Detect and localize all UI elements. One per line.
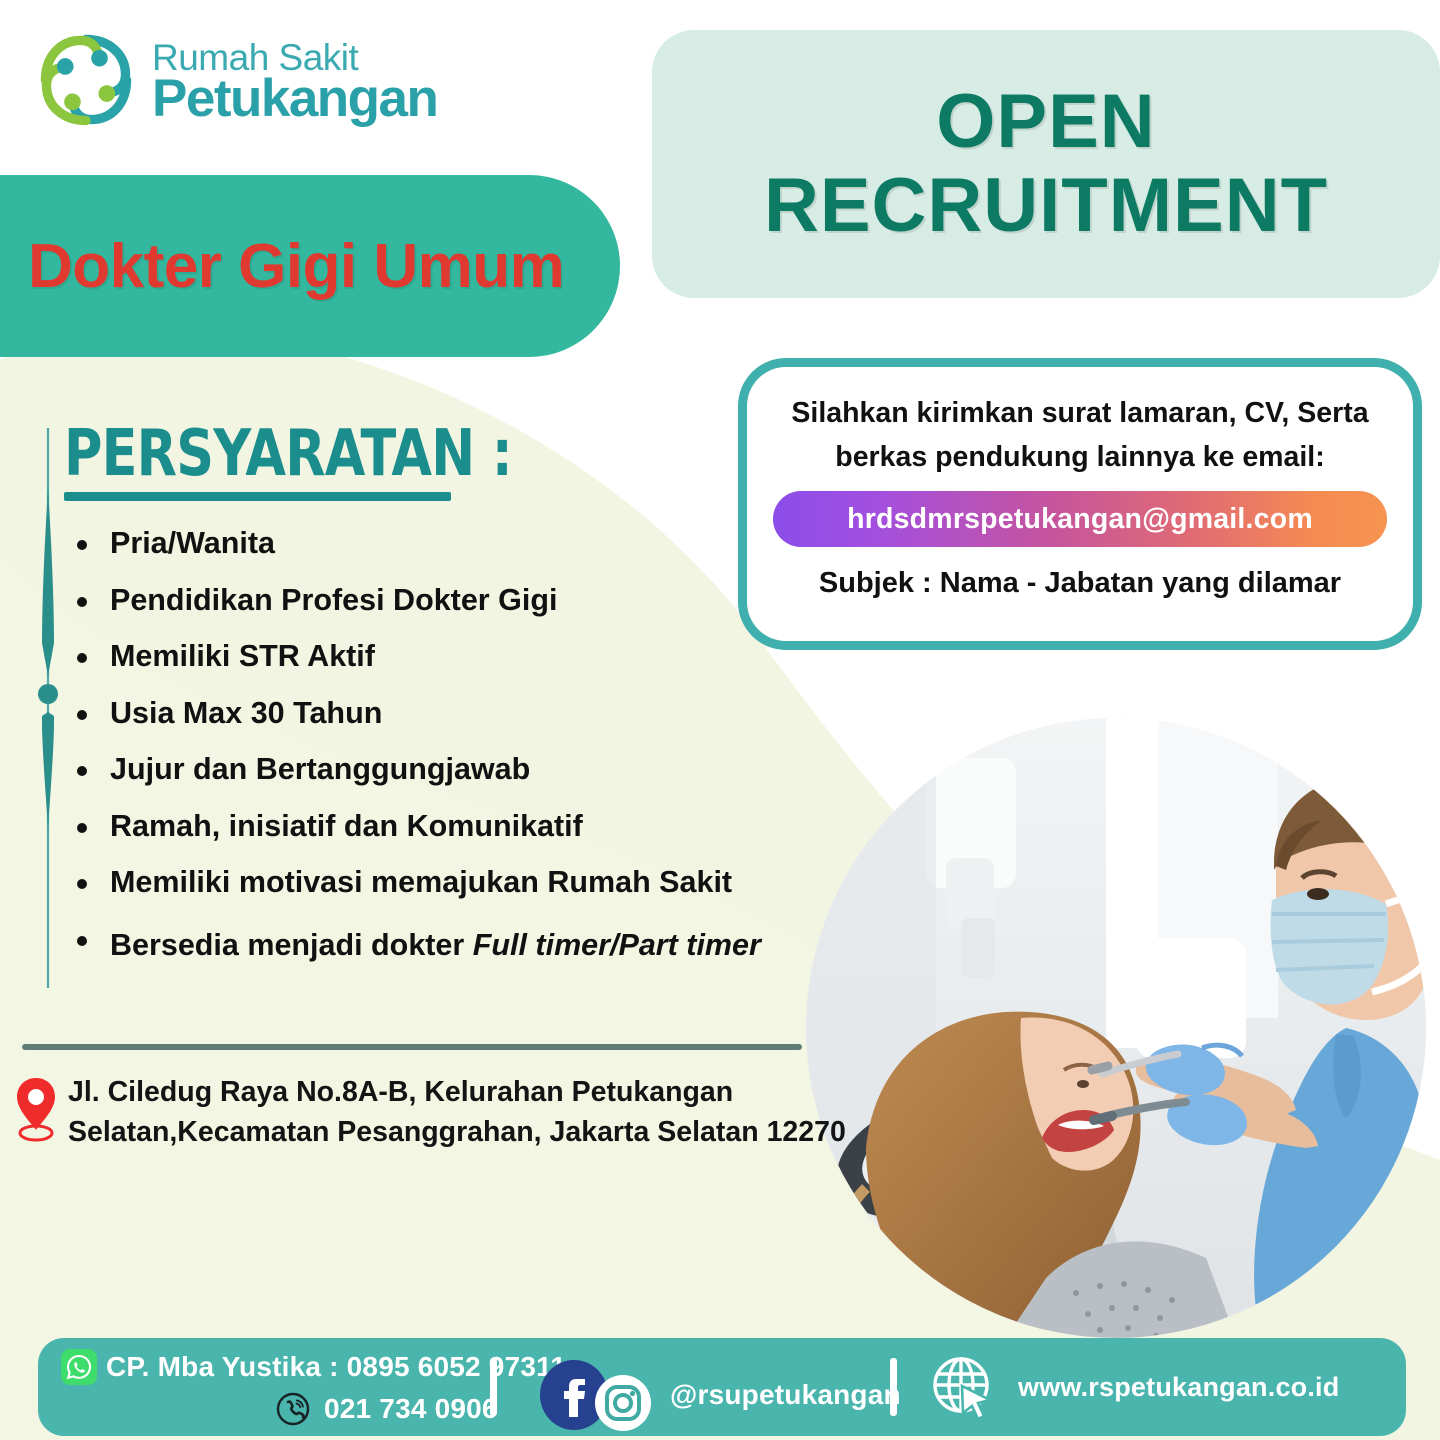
decorative-spindle-divider (30, 428, 66, 988)
list-item: Jujur dan Bertanggungjawab (64, 754, 844, 785)
requirement-text: Usia Max 30 Tahun (110, 696, 382, 730)
footer-contact-bar: CP. Mba Yustika : 0895 6052 97311 021 73… (38, 1338, 1406, 1436)
address-block: Jl. Ciledug Raya No.8A-B, Kelurahan Petu… (14, 1072, 846, 1153)
email-address-pill[interactable]: hrdsdmrspetukangan@gmail.com (773, 491, 1387, 547)
instagram-icon-wrap (594, 1374, 652, 1437)
address-line1: Jl. Ciledug Raya No.8A-B, Kelurahan Petu… (68, 1072, 846, 1112)
brand-line2: Petukangan (152, 72, 437, 125)
apply-lead-line2: berkas pendukung lainnya ke email: (770, 435, 1390, 479)
dentist-photo-illustration (806, 718, 1426, 1338)
list-item: Bersedia menjadi dokter Full timer/Part … (64, 924, 844, 967)
list-item: Usia Max 30 Tahun (64, 698, 844, 729)
email-subject-format: Subjek : Nama - Jabatan yang dilamar (819, 567, 1341, 600)
requirement-text: Bersedia menjadi dokter (110, 928, 473, 962)
website-contact[interactable]: www.rspetukangan.co.id (928, 1352, 1339, 1422)
whatsapp-icon (60, 1348, 98, 1386)
list-item: Memiliki motivasi memajukan Rumah Sakit (64, 867, 844, 898)
requirement-text: Ramah, inisiatif dan Komunikatif (110, 809, 583, 843)
requirement-text: Memiliki motivasi memajukan Rumah Sakit (110, 865, 732, 899)
email-address: hrdsdmrspetukangan@gmail.com (847, 503, 1313, 536)
apply-lead-line1: Silahkan kirimkan surat lamaran, CV, Ser… (770, 391, 1390, 435)
requirements-heading-block: PERSYARATAN : (64, 422, 610, 501)
open-label: OPEN (936, 83, 1155, 161)
website-label: www.rspetukangan.co.id (1018, 1372, 1339, 1403)
apply-lead-text: Silahkan kirimkan surat lamaran, CV, Ser… (770, 391, 1390, 479)
list-item: Ramah, inisiatif dan Komunikatif (64, 811, 844, 842)
phone-label: 021 734 0906 (324, 1393, 498, 1425)
pinwheel-logo-icon (34, 28, 138, 132)
whatsapp-label: CP. Mba Yustika : 0895 6052 97311 (106, 1351, 566, 1383)
phone-contact[interactable]: 021 734 0906 (276, 1392, 498, 1426)
recruitment-label: RECRUITMENT (764, 167, 1328, 245)
requirement-text: Memiliki STR Aktif (110, 639, 375, 673)
dentist-photo (806, 718, 1426, 1338)
list-item: Pendidikan Profesi Dokter Gigi (64, 585, 844, 616)
requirement-text-italic: Full timer/Part timer (473, 928, 761, 962)
location-pin-icon (14, 1076, 58, 1142)
requirement-text: Pendidikan Profesi Dokter Gigi (110, 583, 557, 617)
footer-divider-1 (490, 1358, 497, 1416)
footer-divider-2 (890, 1358, 897, 1416)
globe-cursor-icon (928, 1352, 998, 1422)
requirements-heading: PERSYARATAN : (64, 422, 512, 486)
phone-icon (276, 1392, 310, 1426)
requirements-list: Pria/Wanita Pendidikan Profesi Dokter Gi… (64, 528, 844, 981)
list-item: Pria/Wanita (64, 528, 844, 559)
brand-logo: Rumah Sakit Petukangan (34, 28, 437, 132)
social-contact[interactable]: @rsupetukangan (538, 1352, 901, 1437)
address-divider (22, 1044, 802, 1050)
instagram-icon (594, 1374, 652, 1432)
position-title: Dokter Gigi Umum (28, 231, 564, 302)
open-recruitment-card: OPEN RECRUITMENT (652, 30, 1440, 298)
requirement-text: Jujur dan Bertanggungjawab (110, 752, 530, 786)
list-item: Memiliki STR Aktif (64, 641, 844, 672)
address-line2: Selatan,Kecamatan Pesanggrahan, Jakarta … (68, 1112, 846, 1152)
requirement-text: Pria/Wanita (110, 526, 275, 560)
position-banner: Dokter Gigi Umum (0, 175, 620, 357)
application-instructions-panel: Silahkan kirimkan surat lamaran, CV, Ser… (738, 358, 1422, 650)
requirements-heading-underline (64, 492, 451, 501)
recruitment-poster: Rumah Sakit Petukangan OPEN RECRUITMENT … (0, 0, 1440, 1440)
social-handle: @rsupetukangan (670, 1379, 901, 1411)
